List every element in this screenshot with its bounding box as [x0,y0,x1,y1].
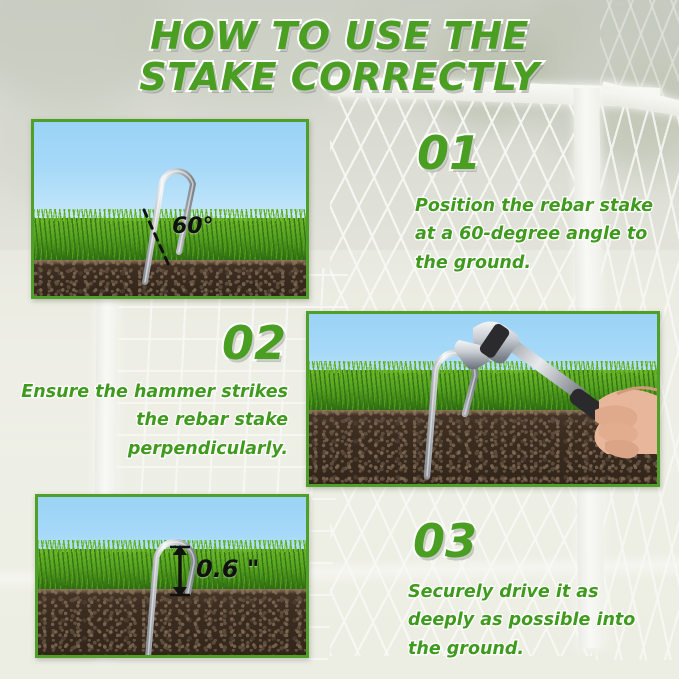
step-2-number: 02 [222,320,286,366]
step-1-image: 60° [31,119,309,299]
step-1-annotation-label: 60° [172,214,214,239]
step-3-number: 03 [413,518,477,564]
measurement-arrow-icon [167,543,193,599]
infographic-root: HOW TO USE THE STAKE CORRECTLY 60° [0,0,679,679]
step-2-description: Ensure the hammer strikes the rebar stak… [16,378,288,463]
step-2-image [306,311,660,487]
step-3-annotation-label: 0.6 " [196,555,259,583]
step-1-number: 01 [417,130,481,176]
page-title: HOW TO USE THE STAKE CORRECTLY [0,16,679,98]
step-3-description: Securely drive it as deeply as possible … [408,578,670,663]
step-3-image: 0.6 " [35,494,309,658]
hammer-icon [449,314,660,464]
step-1-description: Position the rebar stake at a 60-degree … [415,192,665,277]
